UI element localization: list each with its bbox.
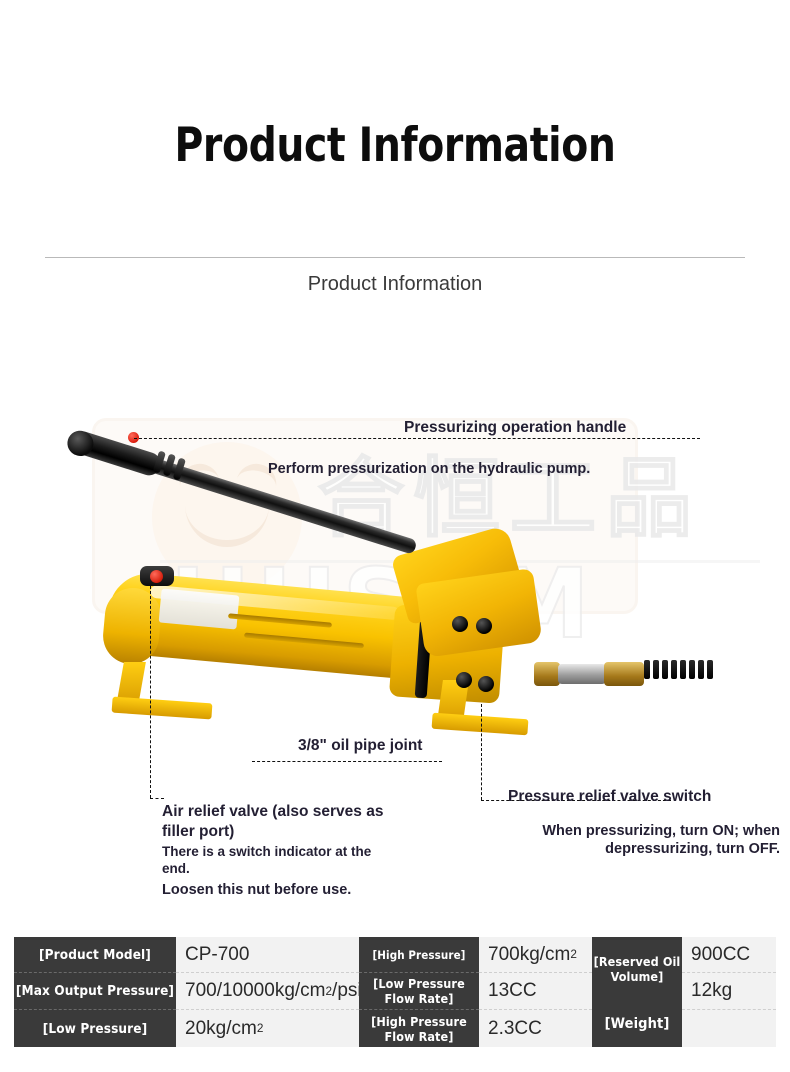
spec-value-text: CP-700 xyxy=(185,944,249,966)
hose-right-brass-sleeve xyxy=(604,662,644,686)
spec-value-text: 900CC xyxy=(691,944,750,966)
pump-foot-rear-base xyxy=(432,713,529,736)
product-information-page: Product Information Product Information … xyxy=(0,0,790,1072)
spec-value-sup: 2 xyxy=(570,948,577,961)
spec-value-cell: 900CC xyxy=(682,937,776,973)
spec-group-left: [Product Model] [Max Output Pressure] [L… xyxy=(14,937,359,1047)
spec-value-tail: /psi xyxy=(332,980,362,1002)
callout-label-air-relief-valve: Air relief valve (also serves as filler … xyxy=(162,802,412,841)
hose-right-steel-sleeve xyxy=(558,664,606,684)
callout-note-air-relief-valve: Loosen this nut before use. xyxy=(162,881,412,899)
spec-value-text: 13CC xyxy=(488,980,537,1002)
callout-desc-handle: Perform pressurization on the hydraulic … xyxy=(268,460,698,478)
callout-label-oil-pipe-joint: 3/8" oil pipe joint xyxy=(298,736,518,756)
spec-label-cell: [Low Pressure] xyxy=(14,1010,176,1047)
spec-value-column-right: 900CC 12kg xyxy=(682,937,776,1047)
page-title: Product Information xyxy=(28,118,763,173)
spec-label-cell: [High Pressure] xyxy=(359,937,479,973)
specification-table: [Product Model] [Max Output Pressure] [L… xyxy=(14,937,776,1047)
spec-label-cell: [Weight] xyxy=(592,1000,682,1047)
spec-value-column-middle: 700kg/cm2 13CC 2.3CC xyxy=(479,937,592,1047)
callout-line-air-relief-valve xyxy=(150,586,151,798)
spec-label-cell: [Max Output Pressure] xyxy=(14,973,176,1010)
spec-value-cell: 12kg xyxy=(682,973,776,1010)
hose-right-brass-nut xyxy=(534,662,560,686)
page-subtitle: Product Information xyxy=(0,273,790,296)
callout-label-pressure-relief-valve: Pressure relief valve switch xyxy=(508,787,788,807)
callout-desc-air-relief-valve: There is a switch indicator at the end. xyxy=(162,843,392,877)
air-relief-valve-indicator xyxy=(150,570,163,583)
hose-right-spring-guard xyxy=(644,660,713,679)
spec-label-cell: [Product Model] xyxy=(14,937,176,973)
spec-value-cell: 13CC xyxy=(479,973,592,1010)
spec-value-cell-empty xyxy=(682,1010,776,1047)
pump-handle-socket-lower xyxy=(415,568,542,658)
valve-body-bolt-3 xyxy=(456,672,472,688)
spec-label-column-left: [Product Model] [Max Output Pressure] [L… xyxy=(14,937,176,1047)
spec-value-text: 12kg xyxy=(691,980,732,1002)
callout-label-handle: Pressurizing operation handle xyxy=(404,418,704,438)
spec-value-cell: CP-700 xyxy=(176,937,359,973)
spec-value-cell: 20kg/cm2 xyxy=(176,1010,359,1047)
spec-group-right: [Reserved Oil Volume] [Weight] 900CC 12k… xyxy=(592,937,776,1047)
pump-foot-front-base xyxy=(112,697,213,720)
callout-desc-pressure-relief-valve: When pressurizing, turn ON; when depress… xyxy=(460,822,780,859)
spec-value-cell: 700kg/cm2 xyxy=(479,937,592,973)
valve-body-bolt-1 xyxy=(452,616,468,632)
spec-value-text: 2.3CC xyxy=(488,1018,542,1040)
callout-line-handle xyxy=(134,438,700,439)
valve-body-bolt-4 xyxy=(478,676,494,692)
spec-label-column-right: [Reserved Oil Volume] [Weight] xyxy=(592,937,682,1047)
valve-body-bolt-2 xyxy=(476,618,492,634)
spec-value-text: 700kg/cm xyxy=(488,944,570,966)
callout-elbow-air-relief-valve xyxy=(150,798,164,799)
spec-value-cell: 700/10000kg/cm2/psi xyxy=(176,973,359,1010)
callout-line-pressure-relief-valve xyxy=(481,704,482,800)
spec-value-cell: 2.3CC xyxy=(479,1010,592,1047)
header-divider xyxy=(45,257,745,258)
callout-line-oil-pipe-joint xyxy=(252,761,442,762)
spec-value-text: 20kg/cm xyxy=(185,1018,257,1040)
spec-label-cell: [Low Pressure Flow Rate] xyxy=(359,973,479,1010)
spec-value-sup: 2 xyxy=(257,1022,264,1035)
spec-label-column-middle: [High Pressure] [Low Pressure Flow Rate]… xyxy=(359,937,479,1047)
pump-cylinder-label xyxy=(159,589,240,630)
spec-value-text: 700/10000kg/cm xyxy=(185,980,326,1002)
spec-label-cell: [Reserved Oil Volume] xyxy=(592,937,682,1000)
spec-group-middle: [High Pressure] [Low Pressure Flow Rate]… xyxy=(359,937,592,1047)
spec-label-cell: [High Pressure Flow Rate] xyxy=(359,1010,479,1047)
spec-value-column-left: CP-700 700/10000kg/cm2/psi 20kg/cm2 xyxy=(176,937,359,1047)
